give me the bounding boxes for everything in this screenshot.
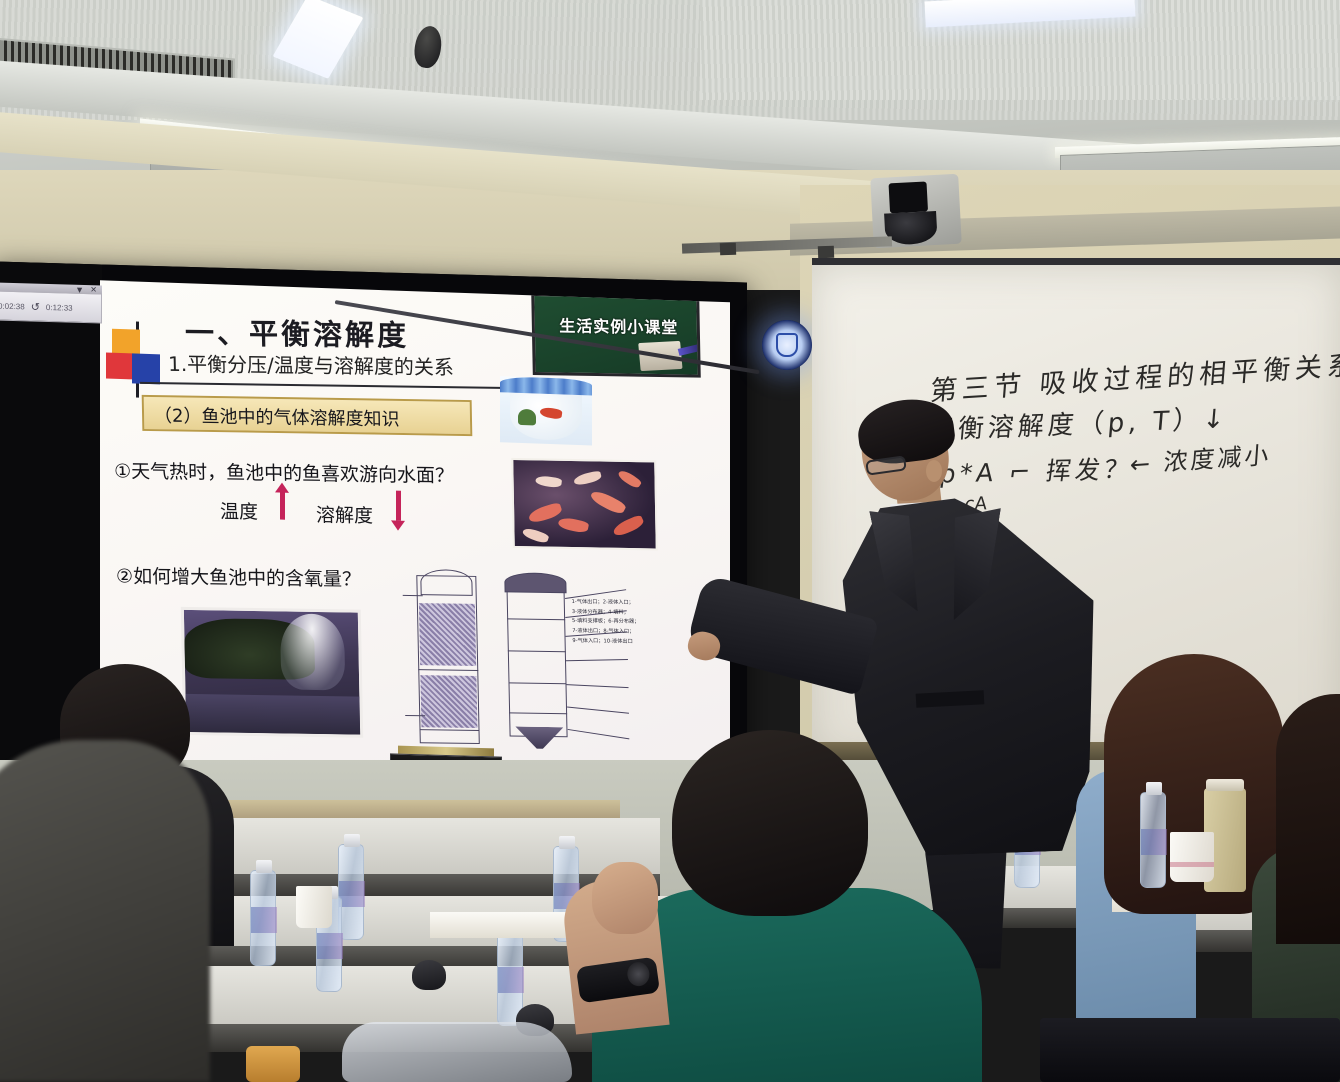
student-blurred-foreground (0, 740, 210, 1082)
bottle-label (251, 907, 277, 933)
classroom-photo-scene: 一、平衡溶解度 1.平衡分压/温度与溶解度的关系 生活实例小课堂 （2）鱼池中的… (0, 0, 1340, 1082)
up-arrow-icon (280, 490, 285, 520)
clear-plastic-water-bottle-7[interactable] (1140, 792, 1166, 888)
bottle-label (317, 933, 343, 959)
slide-subtitle: 1.平衡分压/温度与溶解度的关系 (168, 348, 454, 381)
computer-mouse[interactable] (412, 960, 446, 990)
bottle-label (339, 881, 365, 907)
bottle-label (1141, 829, 1167, 855)
bottle-cap (256, 860, 272, 873)
flask-lid (1206, 779, 1244, 791)
keyword-temperature: 温度 (220, 497, 259, 525)
decor-square-blue (132, 353, 160, 384)
rail-bracket (720, 243, 736, 256)
slide-divider (140, 382, 540, 390)
bottle-label (498, 967, 524, 993)
student-hand (592, 862, 658, 934)
student-hair (1276, 694, 1340, 944)
clear-plastic-water-bottle[interactable] (250, 870, 276, 966)
decor-square-red (106, 352, 132, 379)
presentation-slide: 一、平衡溶解度 1.平衡分压/温度与溶解度的关系 生活实例小课堂 （2）鱼池中的… (100, 280, 730, 780)
banner-label: 生活实例小课堂 (543, 312, 695, 338)
koi-fish-pond-photo (511, 458, 658, 551)
rail-bracket-2 (818, 246, 834, 259)
pond-fountain-aerator-photo (181, 607, 363, 738)
presenter-ear (926, 460, 942, 482)
laptop-screen[interactable] (1040, 1018, 1340, 1082)
fountain-spray (280, 613, 345, 690)
white-paper-cup-left[interactable] (296, 886, 332, 928)
fountain-water (185, 694, 363, 735)
absorption-tower-schematic (408, 565, 597, 753)
bottle-cap (344, 834, 360, 847)
fishbowl-plant (518, 409, 536, 426)
bottle-cap (559, 836, 575, 849)
highlight-label: （2）鱼池中的气体溶解度知识 (154, 402, 400, 432)
legend-line-5: 9-气体入口；10-液体出口 (572, 637, 692, 648)
remaining-time-label: 0:12:33 (43, 302, 76, 312)
student-head (672, 730, 868, 916)
diagram-legend: 1-气体出口；2-液体入口； 3-液体分布器；4-填料； 5-填料支撑板；6-再… (572, 598, 693, 648)
projector-timer-toolbar[interactable]: 0:02:38 ↺ 0:12:33 (0, 290, 102, 323)
round-blue-logo-icon (762, 320, 812, 370)
undo-arrow-icon[interactable]: ↺ (28, 300, 43, 313)
bottle-cap (1146, 782, 1162, 795)
elapsed-time-label: 0:02:38 (0, 301, 28, 311)
slide-question-2: ②如何增大鱼池中的含氧量？ (116, 561, 362, 591)
life-example-banner: 生活实例小课堂 (531, 293, 701, 378)
white-paper-cup[interactable] (1170, 832, 1214, 882)
down-arrow-icon (396, 491, 401, 521)
keyword-solubility: 溶解度 (316, 500, 374, 528)
whiteboard-line-3: p*A ⌐ 挥发？ (938, 449, 1136, 490)
plastic-bag (342, 1022, 572, 1082)
orange-object (246, 1046, 300, 1082)
pen-icon (678, 344, 701, 356)
